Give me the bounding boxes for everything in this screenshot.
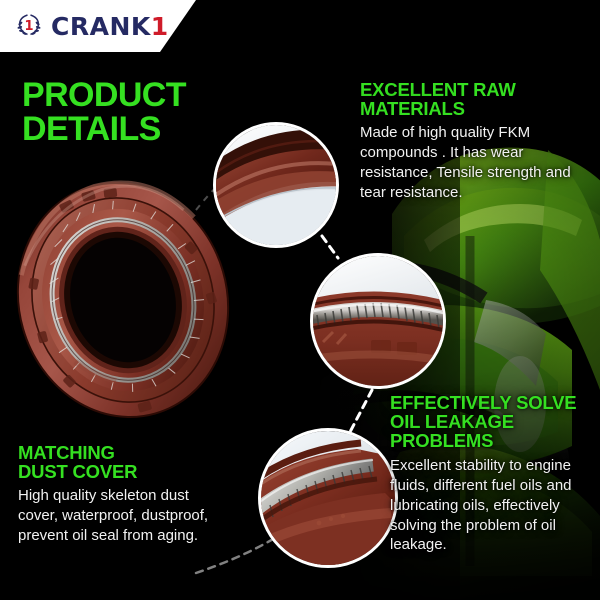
- laurel-wreath-icon: 1: [14, 11, 44, 41]
- feature-heading-line2: MATERIALS: [360, 99, 595, 118]
- feature-body: High quality skeleton dust cover, waterp…: [18, 486, 233, 546]
- feature-heading-line2: DUST COVER: [18, 462, 233, 481]
- feature-heading-line2: OIL LEAKAGE: [390, 412, 595, 431]
- page-title-line1: PRODUCT: [22, 78, 186, 112]
- page-title-line2: DETAILS: [22, 112, 186, 146]
- logo-word-one: 1: [151, 14, 169, 39]
- logo-wordmark: CRANK1: [51, 14, 169, 39]
- feature-heading-line1: EFFECTIVELY SOLVE: [390, 393, 595, 412]
- feature-body: Excellent stability to engine fluids, di…: [390, 456, 595, 556]
- feature-body: Made of high quality FKM compounds . It …: [360, 123, 595, 203]
- feature-heading-line1: EXCELLENT RAW: [360, 80, 595, 99]
- callout-seal-lip[interactable]: [258, 428, 398, 568]
- feature-heading-line1: MATCHING: [18, 443, 233, 462]
- logo-word-crank: CRANK: [51, 14, 151, 39]
- feature-effectively-solve-oil-leakage: EFFECTIVELY SOLVE OIL LEAKAGE PROBLEMS E…: [390, 393, 595, 555]
- feature-matching-dust-cover: MATCHING DUST COVER High quality skeleto…: [18, 443, 233, 546]
- page-title: PRODUCT DETAILS: [22, 78, 186, 146]
- feature-excellent-raw-materials: EXCELLENT RAW MATERIALS Made of high qua…: [360, 80, 595, 203]
- wreath-number: 1: [24, 19, 33, 34]
- feature-heading-line3: PROBLEMS: [390, 431, 595, 450]
- infographic-canvas: 1 CRANK1: [0, 0, 600, 600]
- callout-spring-coil[interactable]: [310, 253, 446, 389]
- callout-raw-material-edge[interactable]: [213, 122, 339, 248]
